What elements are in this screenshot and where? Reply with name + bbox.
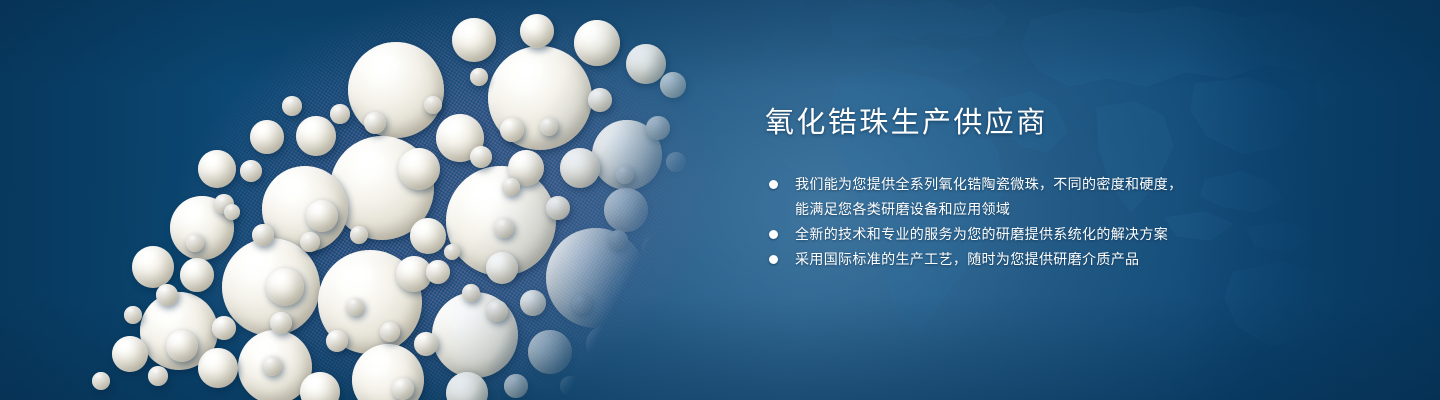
feature-text-line1: 采用国际标准的生产工艺，随时为您提供研磨介质产品: [795, 251, 1139, 267]
bullet-dot-icon: [769, 230, 778, 239]
list-item: 我们能为您提供全系列氧化锆陶瓷微珠，不同的密度和硬度， 能满足您各类研磨设备和应…: [765, 172, 1205, 222]
list-item: 采用国际标准的生产工艺，随时为您提供研磨介质产品: [765, 247, 1205, 272]
feature-text-line1: 我们能为您提供全系列氧化锆陶瓷微珠，不同的密度和硬度，: [795, 176, 1182, 192]
hero-banner: 氧化锆珠生产供应商 我们能为您提供全系列氧化锆陶瓷微珠，不同的密度和硬度， 能满…: [0, 0, 1440, 400]
zirconia-beads-photo: [0, 0, 760, 400]
banner-content: 氧化锆珠生产供应商 我们能为您提供全系列氧化锆陶瓷微珠，不同的密度和硬度， 能满…: [765, 106, 1205, 272]
bullet-dot-icon: [769, 180, 778, 189]
feature-list: 我们能为您提供全系列氧化锆陶瓷微珠，不同的密度和硬度， 能满足您各类研磨设备和应…: [765, 172, 1205, 272]
feature-text-line1: 全新的技术和专业的服务为您的研磨提供系统化的解决方案: [795, 226, 1168, 242]
page-title: 氧化锆珠生产供应商: [765, 106, 1205, 141]
bullet-dot-icon: [769, 255, 778, 264]
feature-text-line2: 能满足您各类研磨设备和应用领域: [795, 197, 1205, 222]
list-item: 全新的技术和专业的服务为您的研磨提供系统化的解决方案: [765, 222, 1205, 247]
